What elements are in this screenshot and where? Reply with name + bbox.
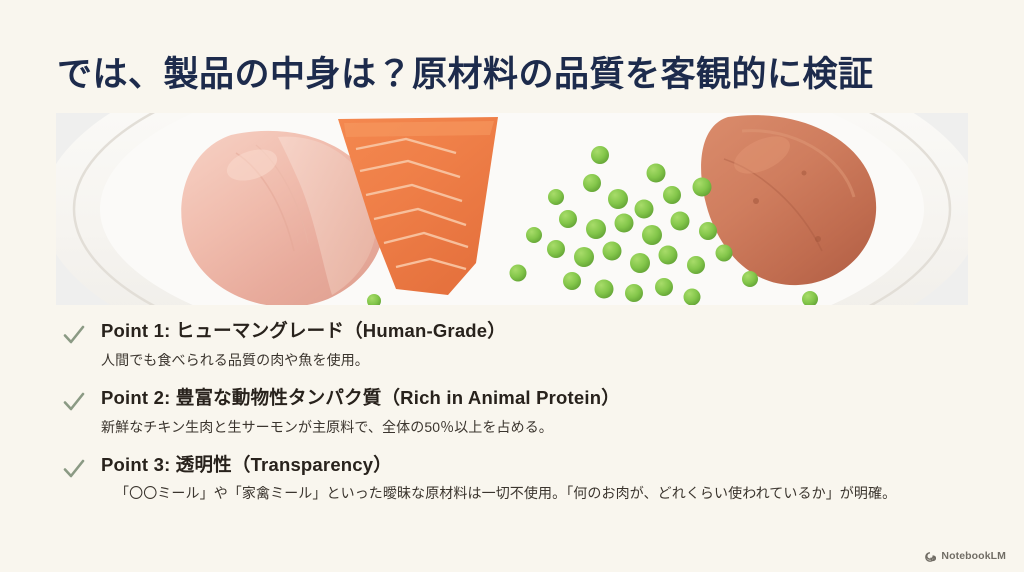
slide-root: では、製品の中身は？原材料の品質を客観的に検証 [0, 0, 1024, 572]
check-icon [61, 456, 87, 482]
point-item-3: Point 3: 透明性（Transparency） 「〇〇ミール」や「家禽ミー… [57, 452, 987, 505]
hero-image [56, 113, 968, 305]
point-heading: Point 2: 豊富な動物性タンパク質（Rich in Animal Prot… [101, 385, 987, 412]
point-item-1: Point 1: ヒューマングレード（Human-Grade） 人間でも食べられ… [57, 318, 987, 371]
point-item-2: Point 2: 豊富な動物性タンパク質（Rich in Animal Prot… [57, 385, 987, 438]
page-title: では、製品の中身は？原材料の品質を客観的に検証 [57, 54, 874, 96]
notebooklm-spiral-icon [924, 550, 936, 562]
point-heading: Point 3: 透明性（Transparency） [101, 452, 987, 479]
watermark-label: NotebookLM [941, 550, 1006, 562]
points-list: Point 1: ヒューマングレード（Human-Grade） 人間でも食べられ… [57, 318, 987, 504]
check-icon [61, 322, 87, 348]
check-icon [61, 389, 87, 415]
point-heading: Point 1: ヒューマングレード（Human-Grade） [101, 318, 987, 345]
watermark: NotebookLM [924, 550, 1006, 562]
point-description: 新鮮なチキン生肉と生サーモンが主原料で、全体の50％以上を占める。 [101, 417, 987, 438]
point-description: 人間でも食べられる品質の肉や魚を使用。 [101, 350, 987, 371]
point-description: 「〇〇ミール」や「家禽ミール」といった曖昧な原材料は一切不使用。「何のお肉が、ど… [101, 483, 987, 504]
hero-image-illustration [56, 113, 968, 305]
